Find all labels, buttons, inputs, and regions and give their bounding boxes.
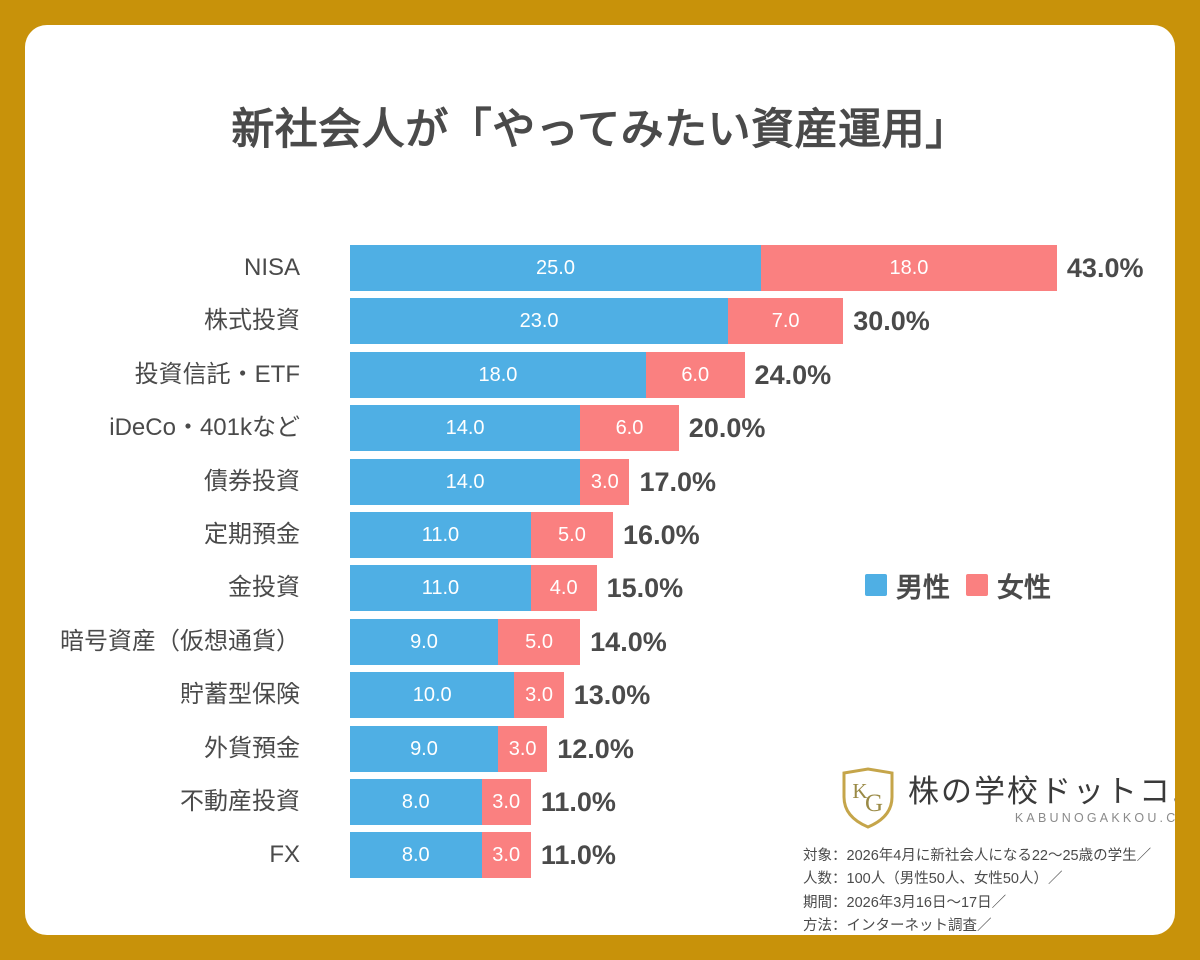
legend-swatch-male-icon [865, 574, 887, 596]
chart-row: 投資信託・ETF18.06.024.0% [25, 352, 1175, 398]
category-label: iDeCo・401kなど [25, 405, 300, 451]
footnote-line: 期間：2026年3月16日〜17日／ [803, 892, 1163, 915]
bar-segment-male[interactable]: 11.0 [350, 512, 531, 558]
category-label: NISA [25, 245, 300, 291]
gold-frame: 新社会人が「やってみたい資産運用」 NISA25.018.043.0%株式投資2… [0, 0, 1200, 960]
category-label: FX [25, 832, 300, 878]
bar-segment-female[interactable]: 5.0 [498, 619, 580, 665]
bar-segment-male[interactable]: 14.0 [350, 405, 580, 451]
bar-total-label: 11.0% [541, 779, 616, 825]
bar-segment-male[interactable]: 9.0 [350, 726, 498, 772]
category-label: 不動産投資 [25, 779, 300, 825]
bar-segment-female[interactable]: 3.0 [482, 832, 531, 878]
bar-segment-female[interactable]: 3.0 [482, 779, 531, 825]
survey-footnote: 対象：2026年4月に新社会人になる22〜25歳の学生／人数：100人（男性50… [803, 845, 1163, 935]
bar-segment-female[interactable]: 4.0 [531, 565, 597, 611]
logo-wordmark: 株の学校ドットコム KABUNOGAKKOU.COM [908, 776, 1175, 825]
legend-swatch-female-icon [966, 574, 988, 596]
chart-row: 債券投資14.03.017.0% [25, 459, 1175, 505]
category-label: 暗号資産（仮想通貨） [25, 619, 300, 665]
brand-logo: K G 株の学校ドットコム KABUNOGAKKOU.COM [840, 767, 1175, 834]
category-label: 投資信託・ETF [25, 352, 300, 398]
logo-name-jp: 株の学校ドットコム [908, 776, 1175, 809]
chart-legend: 男性 女性 [865, 568, 1051, 602]
shield-kg-icon: K G [840, 767, 896, 834]
chart-row: NISA25.018.043.0% [25, 245, 1175, 291]
chart-row: 株式投資23.07.030.0% [25, 298, 1175, 344]
footnote-line: 人数：100人（男性50人、女性50人）／ [803, 868, 1163, 891]
bar-segment-female[interactable]: 18.0 [761, 245, 1057, 291]
bar-segment-male[interactable]: 25.0 [350, 245, 761, 291]
bar-segment-female[interactable]: 3.0 [498, 726, 547, 772]
chart-row: 貯蓄型保険10.03.013.0% [25, 672, 1175, 718]
chart-row: iDeCo・401kなど14.06.020.0% [25, 405, 1175, 451]
category-label: 金投資 [25, 565, 300, 611]
chart-row: 暗号資産（仮想通貨）9.05.014.0% [25, 619, 1175, 665]
bar-total-label: 14.0% [590, 619, 667, 665]
category-label: 定期預金 [25, 512, 300, 558]
bar-segment-male[interactable]: 11.0 [350, 565, 531, 611]
infographic-card: 新社会人が「やってみたい資産運用」 NISA25.018.043.0%株式投資2… [25, 25, 1175, 935]
category-label: 貯蓄型保険 [25, 672, 300, 718]
bar-segment-female[interactable]: 5.0 [531, 512, 613, 558]
bar-segment-female[interactable]: 7.0 [728, 298, 843, 344]
bar-total-label: 24.0% [755, 352, 832, 398]
category-label: 株式投資 [25, 298, 300, 344]
logo-name-en: KABUNOGAKKOU.COM [1015, 811, 1175, 825]
bar-total-label: 20.0% [689, 405, 766, 451]
bar-segment-male[interactable]: 9.0 [350, 619, 498, 665]
legend-label-male: 男性 [896, 566, 950, 605]
bar-segment-male[interactable]: 18.0 [350, 352, 646, 398]
chart-row: 定期預金11.05.016.0% [25, 512, 1175, 558]
category-label: 債券投資 [25, 459, 300, 505]
bar-total-label: 43.0% [1067, 245, 1144, 291]
bar-segment-female[interactable]: 3.0 [580, 459, 629, 505]
legend-item-female[interactable]: 女性 [966, 566, 1051, 605]
bar-segment-female[interactable]: 3.0 [514, 672, 563, 718]
bar-segment-male[interactable]: 10.0 [350, 672, 514, 718]
bar-total-label: 17.0% [639, 459, 716, 505]
category-label: 外貨預金 [25, 726, 300, 772]
bar-total-label: 16.0% [623, 512, 700, 558]
bar-segment-female[interactable]: 6.0 [580, 405, 679, 451]
bar-segment-male[interactable]: 8.0 [350, 832, 482, 878]
legend-label-female: 女性 [997, 566, 1051, 605]
bar-total-label: 13.0% [574, 672, 651, 718]
bar-total-label: 15.0% [607, 565, 684, 611]
bar-segment-female[interactable]: 6.0 [646, 352, 745, 398]
bar-segment-male[interactable]: 8.0 [350, 779, 482, 825]
footnote-line: 方法：インターネット調査／ [803, 915, 1163, 935]
bar-total-label: 30.0% [853, 298, 930, 344]
bar-segment-male[interactable]: 14.0 [350, 459, 580, 505]
footnote-line: 対象：2026年4月に新社会人になる22〜25歳の学生／ [803, 845, 1163, 868]
bar-segment-male[interactable]: 23.0 [350, 298, 728, 344]
legend-item-male[interactable]: 男性 [865, 566, 950, 605]
chart-row: 外貨預金9.03.012.0% [25, 726, 1175, 772]
svg-text:G: G [865, 790, 883, 817]
bar-total-label: 12.0% [557, 726, 634, 772]
bar-total-label: 11.0% [541, 832, 616, 878]
